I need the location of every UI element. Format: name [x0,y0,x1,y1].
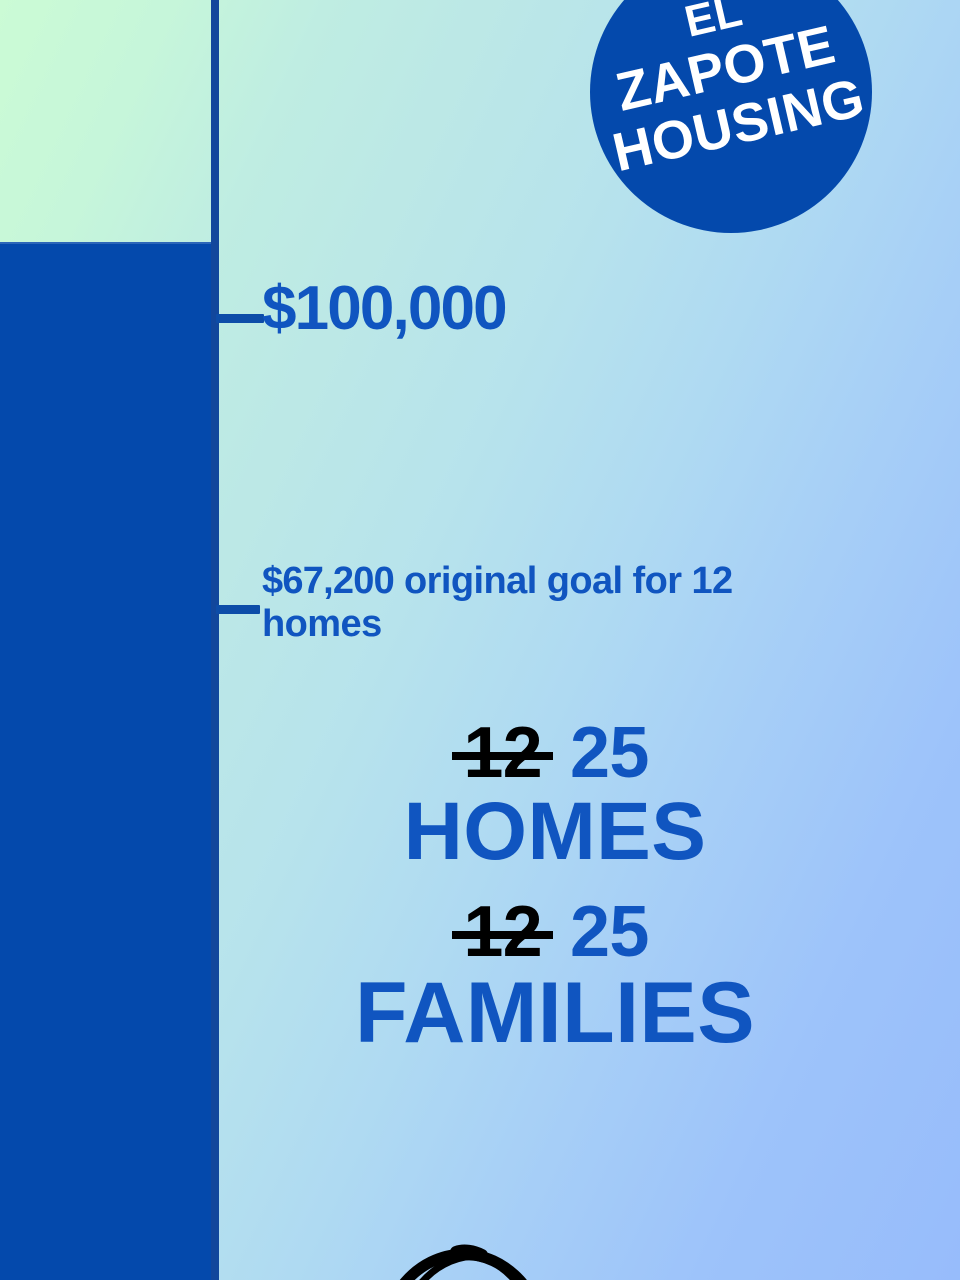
bar-chart-column [0,0,212,1280]
stat-numbers-families: 1225 [250,895,860,970]
tick-mark-100k [216,314,264,323]
hand-drawn-circle-doodle [352,1230,572,1280]
badge-text-block: EL ZAPOTE HOUSING [590,0,872,233]
label-original-goal: $67,200 original goal for 12 homes [262,560,822,646]
infographic-poster: $100,000 $67,200 original goal for 12 ho… [0,0,960,1280]
stat-word-homes: HOMES [250,791,860,873]
bar-top-edge [0,242,212,244]
stat-old-count-homes: 12 [461,716,544,791]
stat-block-homes: 1225 HOMES [250,716,860,873]
el-zapote-housing-badge: EL ZAPOTE HOUSING [590,0,872,233]
stat-new-count-homes: 25 [570,713,649,793]
stat-block-families: 1225 FAMILIES [250,895,860,1056]
label-original-goal-amount: $67,200 [262,560,394,602]
stat-old-count-families: 12 [461,895,544,970]
stat-word-families: FAMILIES [250,970,860,1056]
bar-fill-funds-raised [0,242,212,1280]
tick-mark-67200 [216,605,260,614]
chart-axis-line [211,0,219,1280]
stat-numbers-homes: 1225 [250,716,860,791]
label-raised-total: $100,000 [262,277,506,340]
stats-group: 1225 HOMES 1225 FAMILIES [250,716,860,1066]
stat-new-count-families: 25 [570,892,649,972]
